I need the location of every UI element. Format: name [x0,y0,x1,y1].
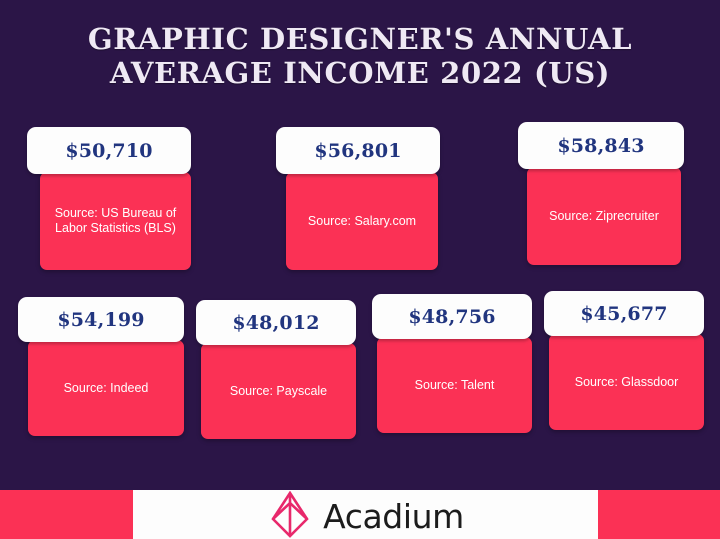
footer-bar: Acadium [0,490,720,539]
income-card-body: Source: Glassdoor [549,334,704,430]
income-card-body: Source: US Bureau of Labor Statistics (B… [40,172,191,270]
acadium-diamond-logo-icon [267,491,313,538]
footer-brand: Acadium [133,490,598,539]
income-card-header: $48,756 [372,294,532,339]
income-amount: $48,756 [408,306,495,328]
page-title-line-1: GRAPHIC DESIGNER'S ANNUAL [0,22,720,56]
income-card-header: $50,710 [27,127,191,174]
income-source-label: Source: Payscale [224,384,333,399]
income-source-label: Source: Glassdoor [569,375,685,390]
footer-right-accent [598,490,720,539]
income-amount: $58,843 [557,135,644,157]
income-card-header: $54,199 [18,297,184,342]
income-card-body: Source: Talent [377,337,532,433]
income-card-header: $45,677 [544,291,704,336]
income-source-label: Source: US Bureau of Labor Statistics (B… [40,206,191,236]
income-card-body: Source: Ziprecruiter [527,167,681,265]
infographic-canvas: GRAPHIC DESIGNER'S ANNUAL AVERAGE INCOME… [0,0,720,539]
income-card-header: $48,012 [196,300,356,345]
income-amount: $56,801 [314,140,401,162]
footer-left-accent [0,490,133,539]
income-card-body: Source: Indeed [28,340,184,436]
page-title-line-2: AVERAGE INCOME 2022 (US) [0,56,720,90]
income-amount: $50,710 [65,140,152,162]
income-source-label: Source: Salary.com [302,214,422,229]
income-card-header: $56,801 [276,127,440,174]
income-source-label: Source: Ziprecruiter [543,209,665,224]
brand-wordmark: Acadium [323,500,464,533]
income-amount: $54,199 [57,309,144,331]
income-source-label: Source: Indeed [58,381,155,396]
income-card-header: $58,843 [518,122,684,169]
income-amount: $48,012 [232,312,319,334]
income-card-body: Source: Salary.com [286,172,438,270]
income-amount: $45,677 [580,303,667,325]
income-source-label: Source: Talent [409,378,501,393]
page-title: GRAPHIC DESIGNER'S ANNUAL AVERAGE INCOME… [0,22,720,90]
income-card-body: Source: Payscale [201,343,356,439]
